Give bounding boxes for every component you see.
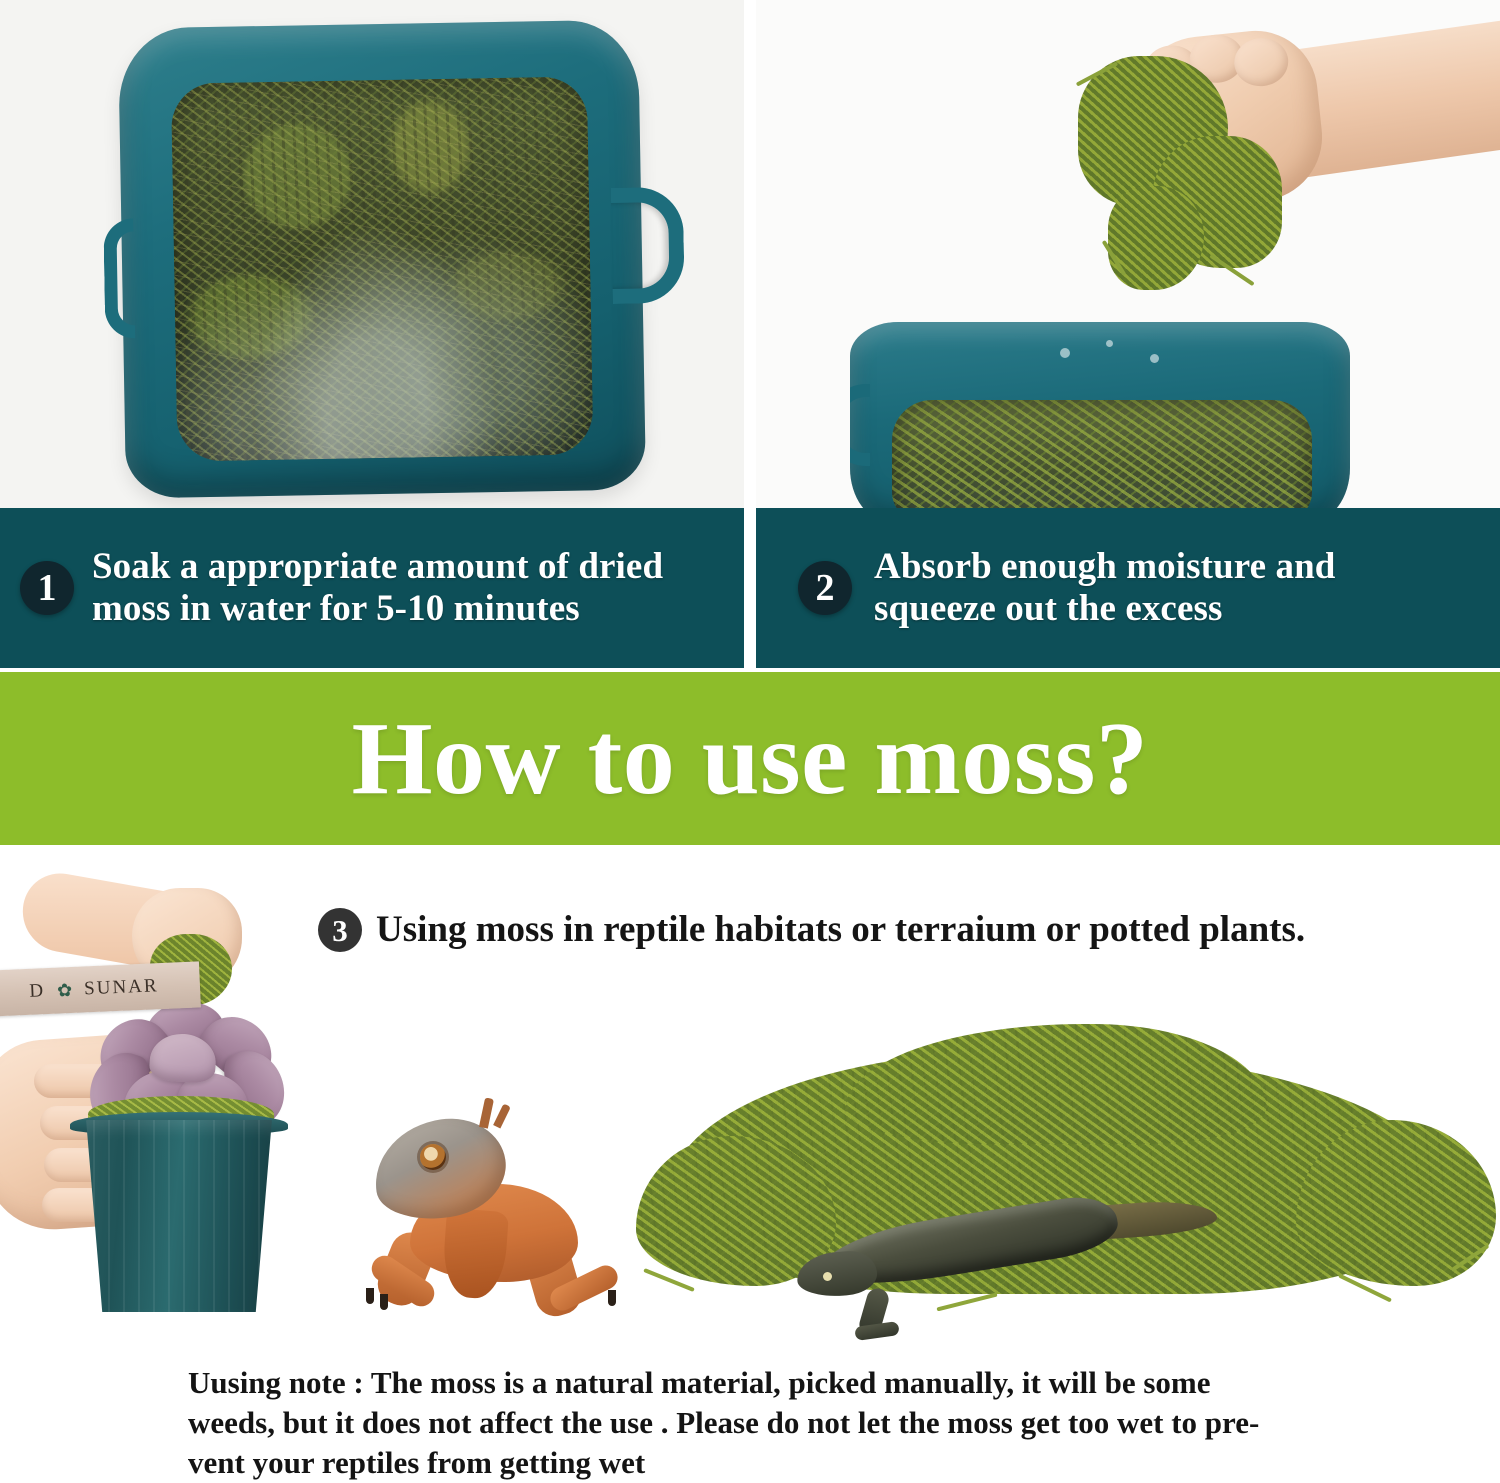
iguana-claw <box>608 1290 616 1306</box>
water-sheen <box>171 76 594 461</box>
page-title: How to use moss? <box>352 707 1149 811</box>
step-3-heading: 3 Using moss in reptile habitats or terr… <box>318 903 1478 957</box>
basin-handle-left <box>103 218 135 339</box>
photo-divider <box>744 0 756 508</box>
pot-label-band: D ✿ SUNAR <box>0 961 201 1016</box>
pot-label-right-text: SUNAR <box>84 975 159 1000</box>
step-text-2: Absorb enough moisture and squeeze out t… <box>874 546 1349 630</box>
step-band-gap <box>744 508 756 668</box>
newt-eye <box>823 1272 832 1281</box>
step-3-text: Using moss in reptile habitats or terrai… <box>376 910 1305 951</box>
iguana-claw <box>380 1294 388 1310</box>
basin-handle-left <box>850 384 870 466</box>
step-2-line-2: squeeze out the excess <box>874 588 1222 629</box>
step-number-badge-1: 1 <box>20 561 74 615</box>
top-photo-row <box>0 0 1500 508</box>
moss-pile-top <box>846 1024 1266 1144</box>
iguana-figure <box>332 1092 662 1342</box>
step-1-line-1: Soak a appropriate amount of dried <box>92 546 663 587</box>
nursery-pot <box>78 1120 280 1312</box>
pot-label-left-text: D <box>29 980 46 1003</box>
iguana-eye <box>420 1144 446 1170</box>
usage-note: Uusing note : The moss is a natural mate… <box>188 1363 1358 1483</box>
step-number-badge-2: 2 <box>798 561 852 615</box>
step-text-1: Soak a appropriate amount of dried moss … <box>92 546 677 630</box>
note-line-1: Uusing note : The moss is a natural mate… <box>188 1363 1358 1403</box>
photo-squeezing-moss <box>756 0 1500 508</box>
note-line-2: weeds, but it does not affect the use . … <box>188 1403 1358 1443</box>
headline-banner: How to use moss? <box>0 672 1500 845</box>
step-1-line-2: moss in water for 5-10 minutes <box>92 588 580 629</box>
step-band-1: 1 Soak a appropriate amount of dried mos… <box>0 508 744 668</box>
step-2-line-1: Absorb enough moisture and <box>874 546 1335 587</box>
basin-handle-right <box>611 187 685 304</box>
iguana-dewlap <box>441 1208 509 1300</box>
photo-soaking-basin <box>0 0 744 508</box>
iguana-horn <box>493 1103 511 1128</box>
moss-in-water <box>892 400 1312 508</box>
basin-illustration <box>118 19 646 498</box>
water-droplet <box>1106 340 1113 347</box>
step-band-2: 2 Absorb enough moisture and squeeze out… <box>756 508 1500 668</box>
step-bands: 1 Soak a appropriate amount of dried mos… <box>0 508 1500 668</box>
infographic-page: 1 Soak a appropriate amount of dried mos… <box>0 0 1500 1477</box>
pot-ribs <box>78 1120 280 1312</box>
hand-squeezing <box>1056 10 1456 310</box>
flower-icon: ✿ <box>57 981 73 1000</box>
soaked-moss <box>171 76 594 461</box>
newt-head <box>796 1249 879 1298</box>
knuckle <box>1232 35 1291 88</box>
newt-figure <box>795 1196 1215 1346</box>
water-droplet <box>1060 348 1070 358</box>
iguana-claw <box>366 1288 374 1304</box>
basin-illustration-lower <box>850 322 1350 508</box>
iguana-horn <box>479 1097 494 1128</box>
water-droplet <box>1150 354 1159 363</box>
